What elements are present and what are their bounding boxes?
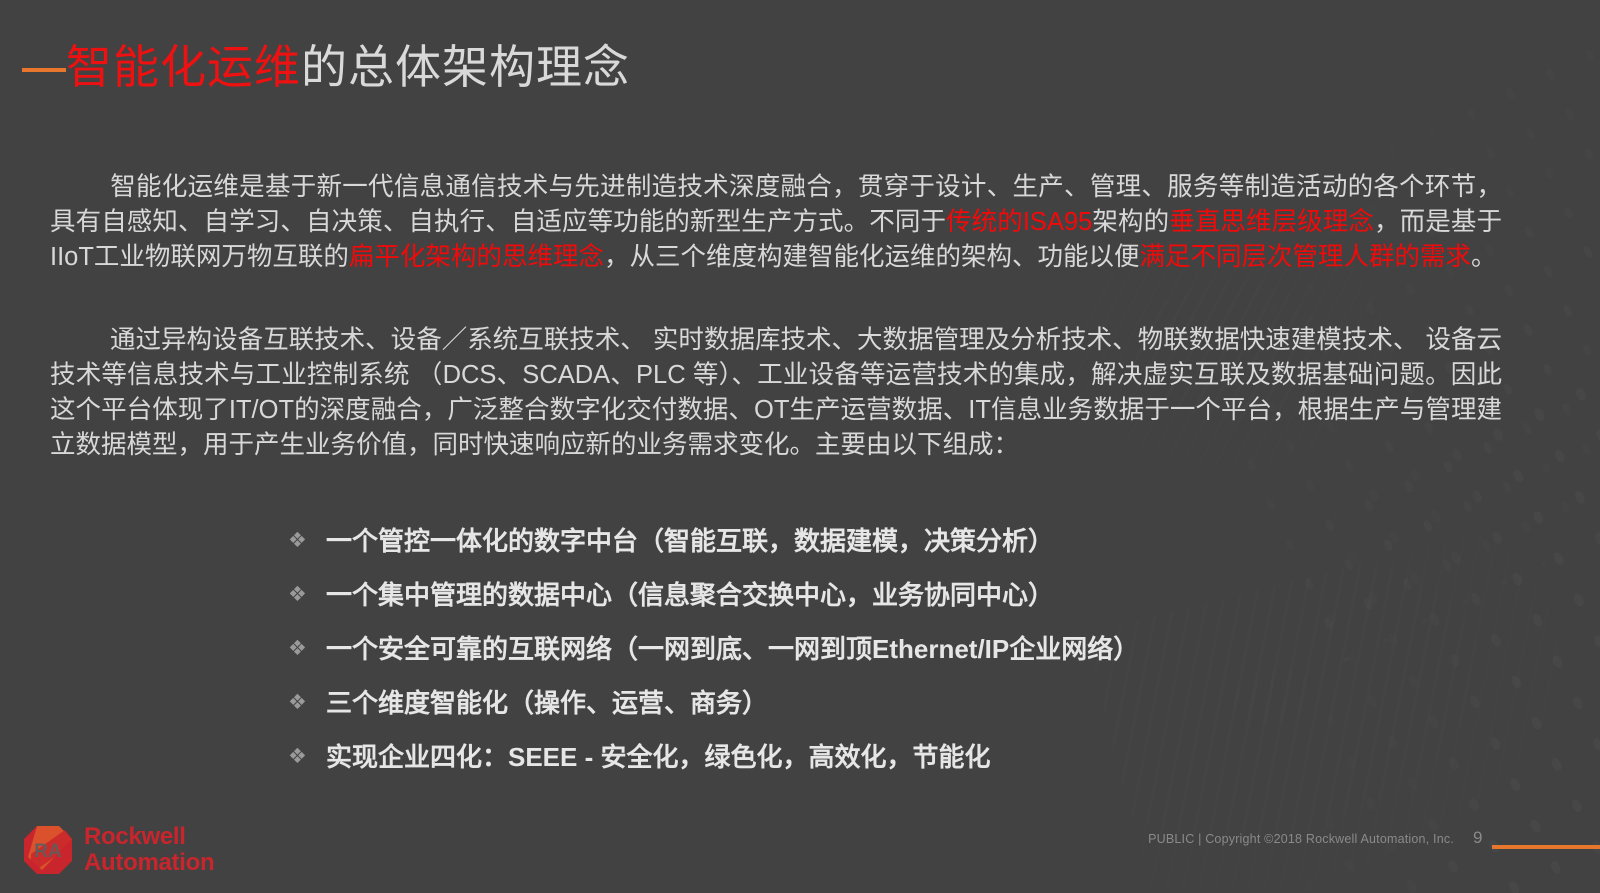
diamond-cluster-icon: ❖ xyxy=(288,740,326,774)
page-number: 9 xyxy=(1473,828,1482,848)
footer-copyright: PUBLIC | Copyright ©2018 Rockwell Automa… xyxy=(1148,832,1454,846)
bullet-item-2: ❖一个集中管理的数据中心（信息聚合交换中心，业务协同中心） xyxy=(288,578,1508,632)
bullet-item-5: ❖实现企业四化：SEEE - 安全化，绿色化，高效化，节能化 xyxy=(288,740,1508,794)
logo-wordmark-line2: Automation xyxy=(84,850,214,876)
page-title-rest: 的总体架构理念 xyxy=(301,41,630,93)
text-run-5: 扁平化架构的思维理念 xyxy=(349,243,604,271)
bullet-item-label: 一个管控一体化的数字中台（智能互联，数据建模，决策分析） xyxy=(326,524,1054,558)
bullet-item-4: ❖三个维度智能化（操作、运营、商务） xyxy=(288,686,1508,740)
bullet-list: ❖一个管控一体化的数字中台（智能互联，数据建模，决策分析）❖一个集中管理的数据中… xyxy=(288,524,1508,794)
paragraph-2: 通过异构设备互联技术、设备／系统互联技术、 实时数据库技术、大数据管理及分析技术… xyxy=(50,323,1502,463)
bullet-item-label: 实现企业四化：SEEE - 安全化，绿色化，高效化，节能化 xyxy=(326,740,990,774)
diamond-cluster-icon: ❖ xyxy=(288,632,326,666)
title-row: 智能化运维的总体架构理念 xyxy=(0,34,1600,104)
text-run-3: 垂直思维层级理念 xyxy=(1169,208,1374,236)
page-title: 智能化运维的总体架构理念 xyxy=(66,32,630,102)
diamond-cluster-icon: ❖ xyxy=(288,524,326,558)
page-title-highlight: 智能化运维 xyxy=(66,41,301,93)
rockwell-octagon-ra-icon: RA xyxy=(22,824,74,876)
slide-canvas: 智能化运维的总体架构理念 智能化运维是基于新一代信息通信技术与先进制造技术深度融… xyxy=(0,0,1600,893)
paragraph-1: 智能化运维是基于新一代信息通信技术与先进制造技术深度融合，贯穿于设计、生产、管理… xyxy=(50,170,1502,275)
bullet-item-label: 一个安全可靠的互联网络（一网到底、一网到顶Ethernet/IP企业网络） xyxy=(326,632,1139,666)
text-run-8: 。 xyxy=(1471,243,1497,271)
text-run-1: 传统的ISA95 xyxy=(946,208,1092,236)
logo-wordmark: Rockwell Automation xyxy=(84,824,214,876)
rockwell-automation-logo: RA Rockwell Automation xyxy=(22,818,252,880)
text-run-7: 满足不同层次管理人群的需求 xyxy=(1139,243,1471,271)
logo-wordmark-line1: Rockwell xyxy=(84,824,214,850)
text-run-0: 通过异构设备互联技术、设备／系统互联技术、 实时数据库技术、大数据管理及分析技术… xyxy=(50,326,1502,459)
diamond-cluster-icon: ❖ xyxy=(288,686,326,720)
text-run-6: ，从三个维度构建智能化运维的架构、功能以便 xyxy=(604,243,1140,271)
body-text-block: 智能化运维是基于新一代信息通信技术与先进制造技术深度融合，贯穿于设计、生产、管理… xyxy=(50,170,1502,463)
svg-text:RA: RA xyxy=(34,841,62,862)
orange-dash-icon xyxy=(22,68,66,72)
orange-rule-icon xyxy=(1492,845,1600,849)
diamond-cluster-icon: ❖ xyxy=(288,578,326,612)
text-run-2: 架构的 xyxy=(1092,208,1169,236)
bullet-item-label: 一个集中管理的数据中心（信息聚合交换中心，业务协同中心） xyxy=(326,578,1054,612)
bullet-item-1: ❖一个管控一体化的数字中台（智能互联，数据建模，决策分析） xyxy=(288,524,1508,578)
bullet-item-label: 三个维度智能化（操作、运营、商务） xyxy=(326,686,768,720)
bullet-item-3: ❖一个安全可靠的互联网络（一网到底、一网到顶Ethernet/IP企业网络） xyxy=(288,632,1508,686)
